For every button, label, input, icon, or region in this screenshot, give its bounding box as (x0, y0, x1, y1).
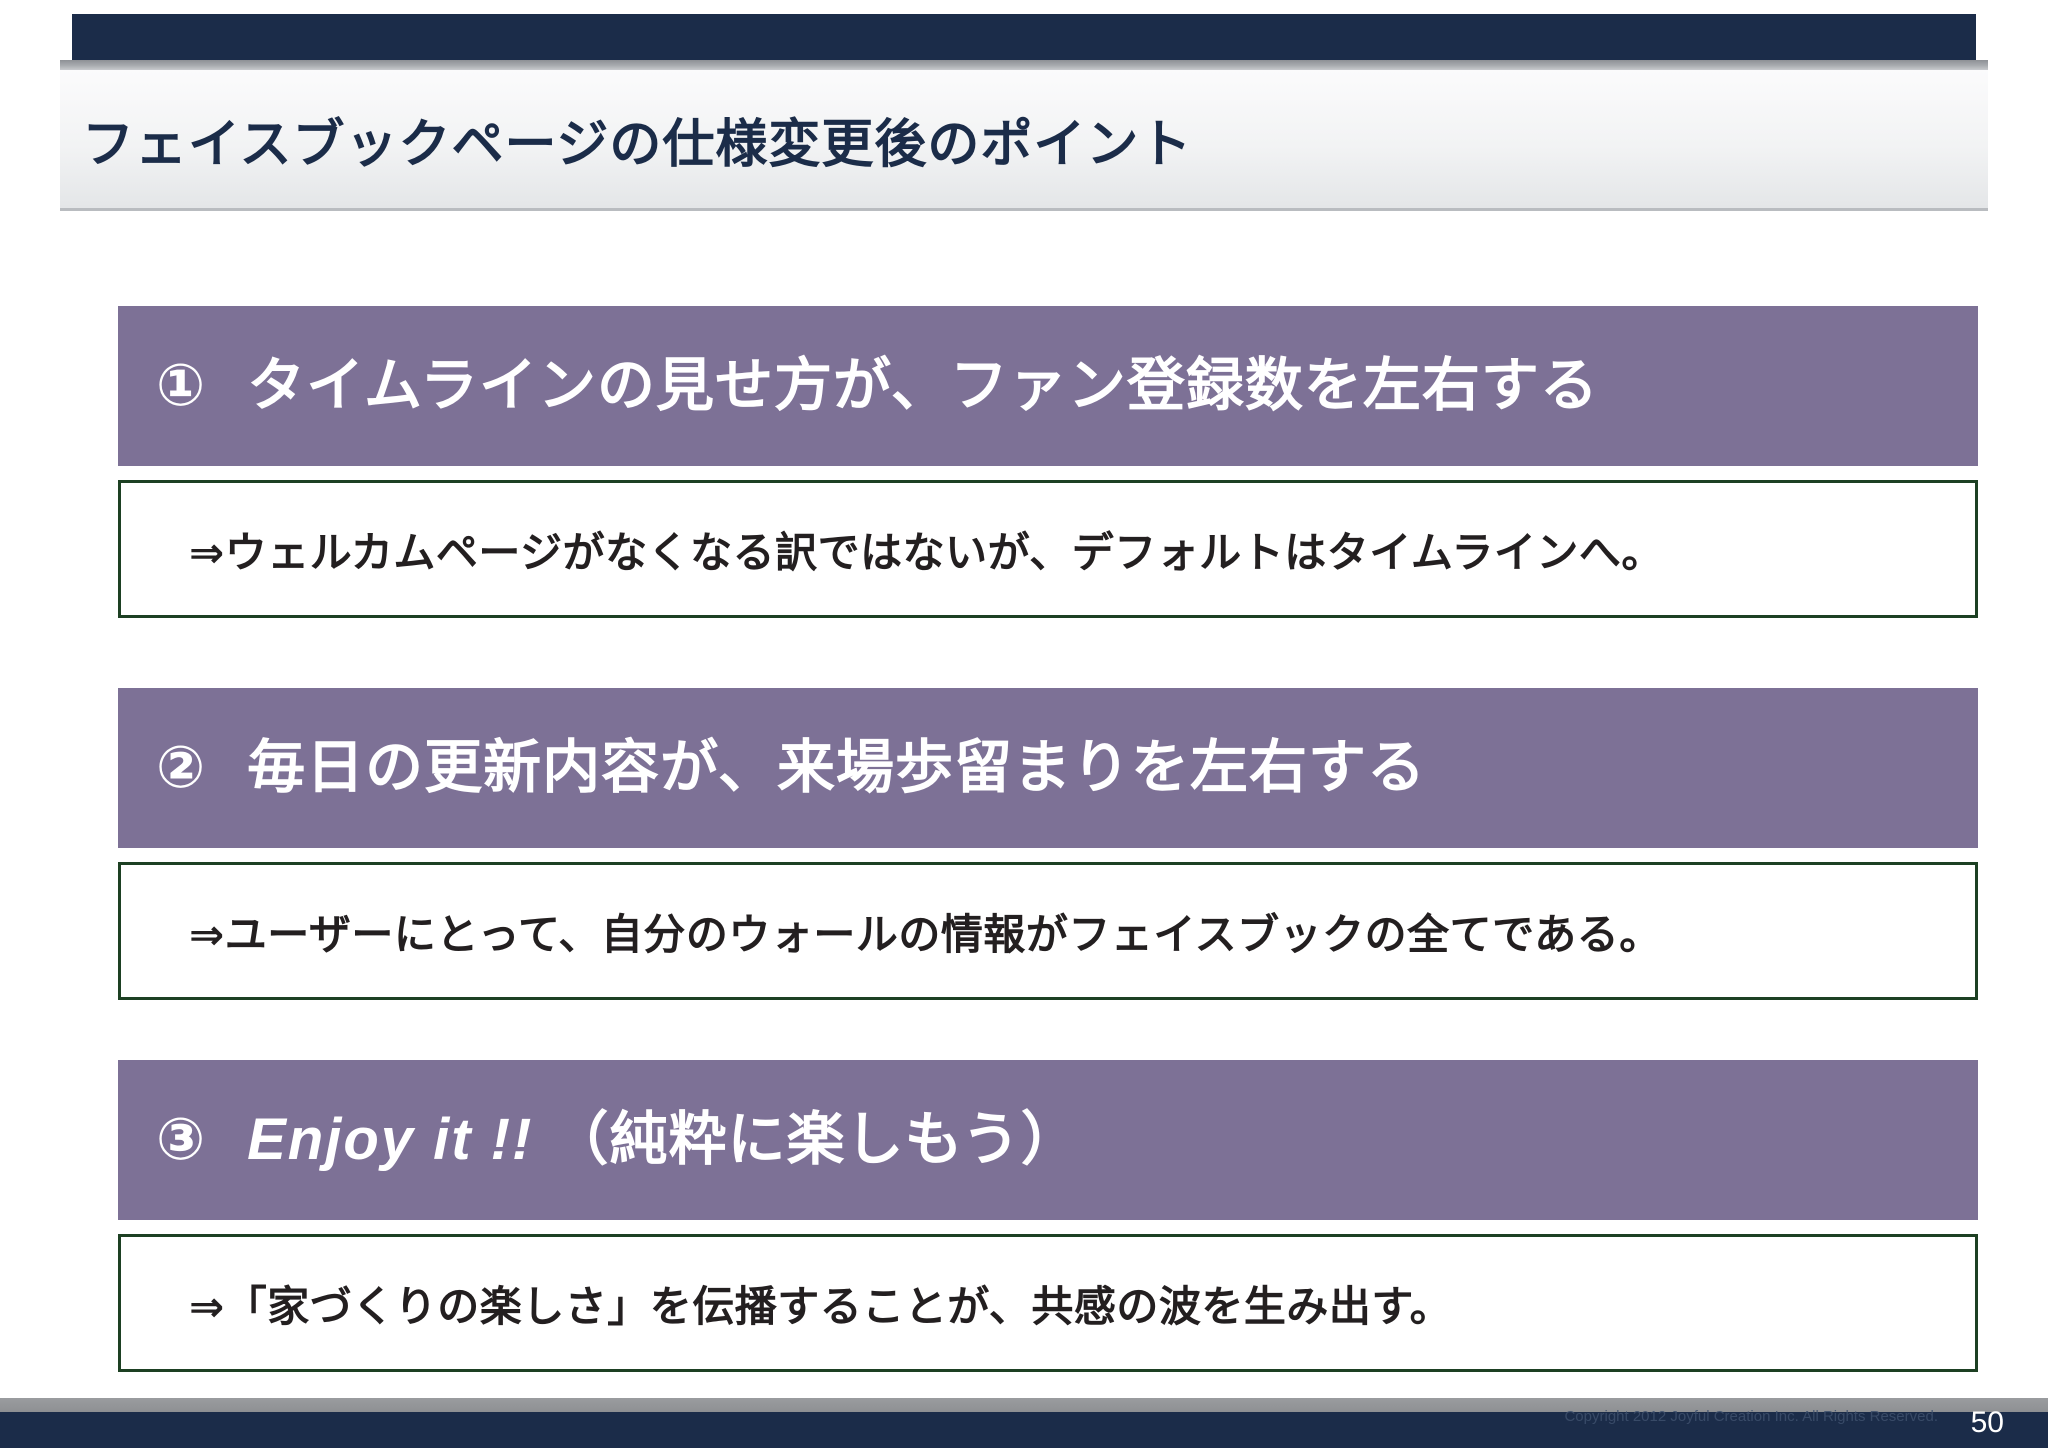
slide-canvas: フェイスブックページの仕様変更後のポイント ① タイムラインの見せ方が、ファン登… (0, 0, 2048, 1448)
slide-title-band: フェイスブックページの仕様変更後のポイント (60, 70, 1988, 211)
point-number-1: ① (156, 357, 205, 415)
point-heading-3: Enjoy it !! （純粋に楽しもう） (247, 1111, 1080, 1169)
top-gray-rule (60, 60, 1988, 70)
point-detail-box-3: ⇒「家づくりの楽しさ」を伝播することが、共感の波を生み出す。 (118, 1234, 1978, 1372)
point-detail-text-3: ⇒「家づくりの楽しさ」を伝播することが、共感の波を生み出す。 (189, 1273, 1452, 1334)
point-heading-3-japanese: （純粋に楽しもう） (550, 1107, 1079, 1172)
point-block-2: ② 毎日の更新内容が、来場歩留まりを左右する ⇒ユーザーにとって、自分のウォール… (118, 688, 1978, 1000)
point-detail-text-2: ⇒ユーザーにとって、自分のウォールの情報がフェイスブックの全てである。 (189, 901, 1662, 962)
point-detail-box-2: ⇒ユーザーにとって、自分のウォールの情報がフェイスブックの全てである。 (118, 862, 1978, 1000)
point-block-1: ① タイムラインの見せ方が、ファン登録数を左右する ⇒ウェルカムページがなくなる… (118, 306, 1978, 618)
page-number: 50 (1971, 1406, 2004, 1440)
point-heading-1: タイムラインの見せ方が、ファン登録数を左右する (247, 357, 1599, 415)
point-block-3: ③ Enjoy it !! （純粋に楽しもう） ⇒「家づくりの楽しさ」を伝播する… (118, 1060, 1978, 1372)
top-navy-bar (72, 14, 1976, 60)
page-title: フェイスブックページの仕様変更後のポイント (82, 102, 1192, 177)
point-heading-3-english: Enjoy it !! (247, 1107, 533, 1172)
point-number-2: ② (156, 739, 205, 797)
point-detail-box-1: ⇒ウェルカムページがなくなる訳ではないが、デフォルトはタイムラインへ。 (118, 480, 1978, 618)
point-heading-2: 毎日の更新内容が、来場歩留まりを左右する (247, 739, 1426, 797)
point-banner-1: ① タイムラインの見せ方が、ファン登録数を左右する (118, 306, 1978, 466)
point-banner-2: ② 毎日の更新内容が、来場歩留まりを左右する (118, 688, 1978, 848)
point-number-3: ③ (156, 1111, 205, 1169)
point-detail-text-1: ⇒ウェルカムページがなくなる訳ではないが、デフォルトはタイムラインへ。 (189, 519, 1664, 580)
footer-copyright: Copyright 2012 Joyful Creation Inc. All … (1564, 1408, 1938, 1425)
point-banner-3: ③ Enjoy it !! （純粋に楽しもう） (118, 1060, 1978, 1220)
